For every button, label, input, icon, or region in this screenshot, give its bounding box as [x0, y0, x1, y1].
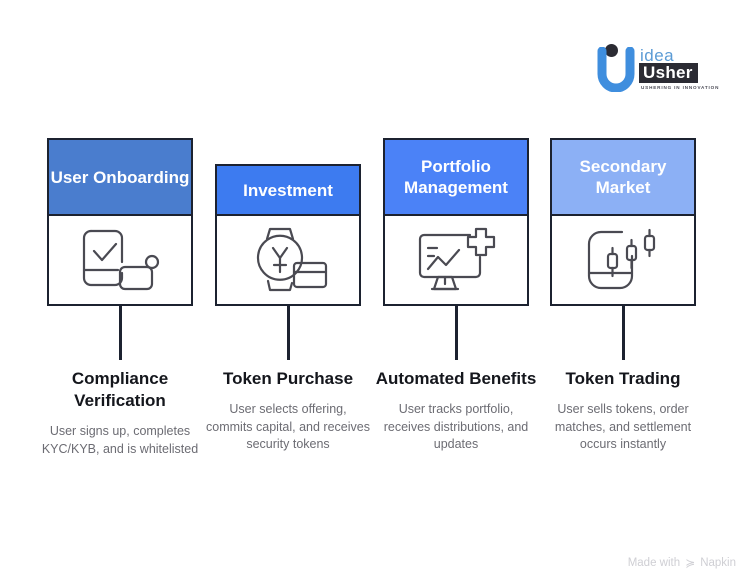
step-description-1: User signs up, completes KYC/KYB, and is…	[38, 423, 202, 458]
connector-line-4	[622, 306, 625, 360]
card-investment[interactable]: Investment	[215, 164, 361, 306]
card-user-onboarding[interactable]: User Onboarding	[47, 138, 193, 306]
step-block-4: Token Trading User sells tokens, order m…	[541, 368, 705, 454]
card-icon-investment	[217, 216, 359, 304]
watermark-text: Made with	[628, 557, 680, 569]
brand-logo: idea Usher USHERING IN INNOVATION	[597, 44, 712, 94]
step-description-3: User tracks portfolio, receives distribu…	[374, 401, 538, 454]
document-check-id-icon	[72, 223, 168, 297]
step-title-1: Compliance Verification	[38, 368, 202, 412]
connector-line-3	[455, 306, 458, 360]
step-block-1: Compliance Verification User signs up, c…	[38, 368, 202, 458]
card-icon-portfolio-management	[385, 216, 527, 304]
step-description-2: User selects offering, commits capital, …	[206, 401, 370, 454]
step-title-3: Automated Benefits	[374, 368, 538, 390]
card-header-secondary-market: Secondary Market	[552, 140, 694, 216]
connector-line-1	[119, 306, 122, 360]
card-header-user-onboarding: User Onboarding	[49, 140, 191, 216]
logo-u-icon	[597, 47, 635, 92]
step-title-2: Token Purchase	[206, 368, 370, 390]
card-header-portfolio-management: Portfolio Management	[385, 140, 527, 216]
phone-candlestick-icon	[575, 223, 671, 297]
coin-credit-card-icon	[240, 223, 336, 297]
card-portfolio-management[interactable]: Portfolio Management	[383, 138, 529, 306]
card-header-investment: Investment	[217, 166, 359, 216]
monitor-chart-plus-icon	[408, 223, 504, 297]
card-icon-secondary-market	[552, 216, 694, 304]
napkin-watermark: Made with ≽ Napkin	[628, 556, 736, 570]
step-description-4: User sells tokens, order matches, and se…	[541, 401, 705, 454]
logo-usher-text: Usher	[639, 63, 698, 83]
step-block-2: Token Purchase User selects offering, co…	[206, 368, 370, 454]
step-title-4: Token Trading	[541, 368, 705, 390]
card-icon-user-onboarding	[49, 216, 191, 304]
connector-line-2	[287, 306, 290, 360]
logo-tagline: USHERING IN INNOVATION	[641, 85, 719, 90]
watermark-brand: Napkin	[700, 557, 736, 569]
card-secondary-market[interactable]: Secondary Market	[550, 138, 696, 306]
napkin-logo-icon: ≽	[685, 556, 695, 570]
step-block-3: Automated Benefits User tracks portfolio…	[374, 368, 538, 454]
